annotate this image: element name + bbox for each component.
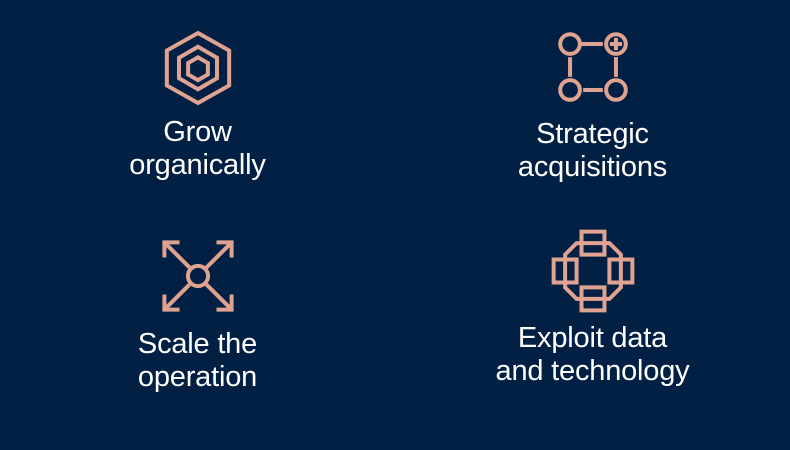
connected-nodes-plus-icon bbox=[552, 26, 634, 108]
pillar-card-strategic-acquisitions[interactable]: Strategic acquisitions bbox=[395, 12, 790, 216]
four-squares-ring-icon bbox=[552, 230, 634, 312]
pillar-card-grow-organically[interactable]: Grow organically bbox=[0, 12, 395, 216]
slide-canvas: Grow organically bbox=[0, 0, 790, 450]
expand-arrows-circle-icon bbox=[156, 234, 240, 318]
nested-hexagon-icon bbox=[160, 30, 236, 106]
pillar-card-scale-the-operation[interactable]: Scale the operation bbox=[0, 216, 395, 420]
pillar-label: Exploit data and technology bbox=[496, 322, 690, 388]
pillar-grid: Grow organically bbox=[0, 0, 790, 450]
pillar-label: Strategic acquisitions bbox=[518, 118, 667, 184]
pillar-label: Grow organically bbox=[129, 116, 265, 182]
pillar-card-exploit-data-and-technology[interactable]: Exploit data and technology bbox=[395, 216, 790, 420]
pillar-label: Scale the operation bbox=[138, 328, 257, 394]
